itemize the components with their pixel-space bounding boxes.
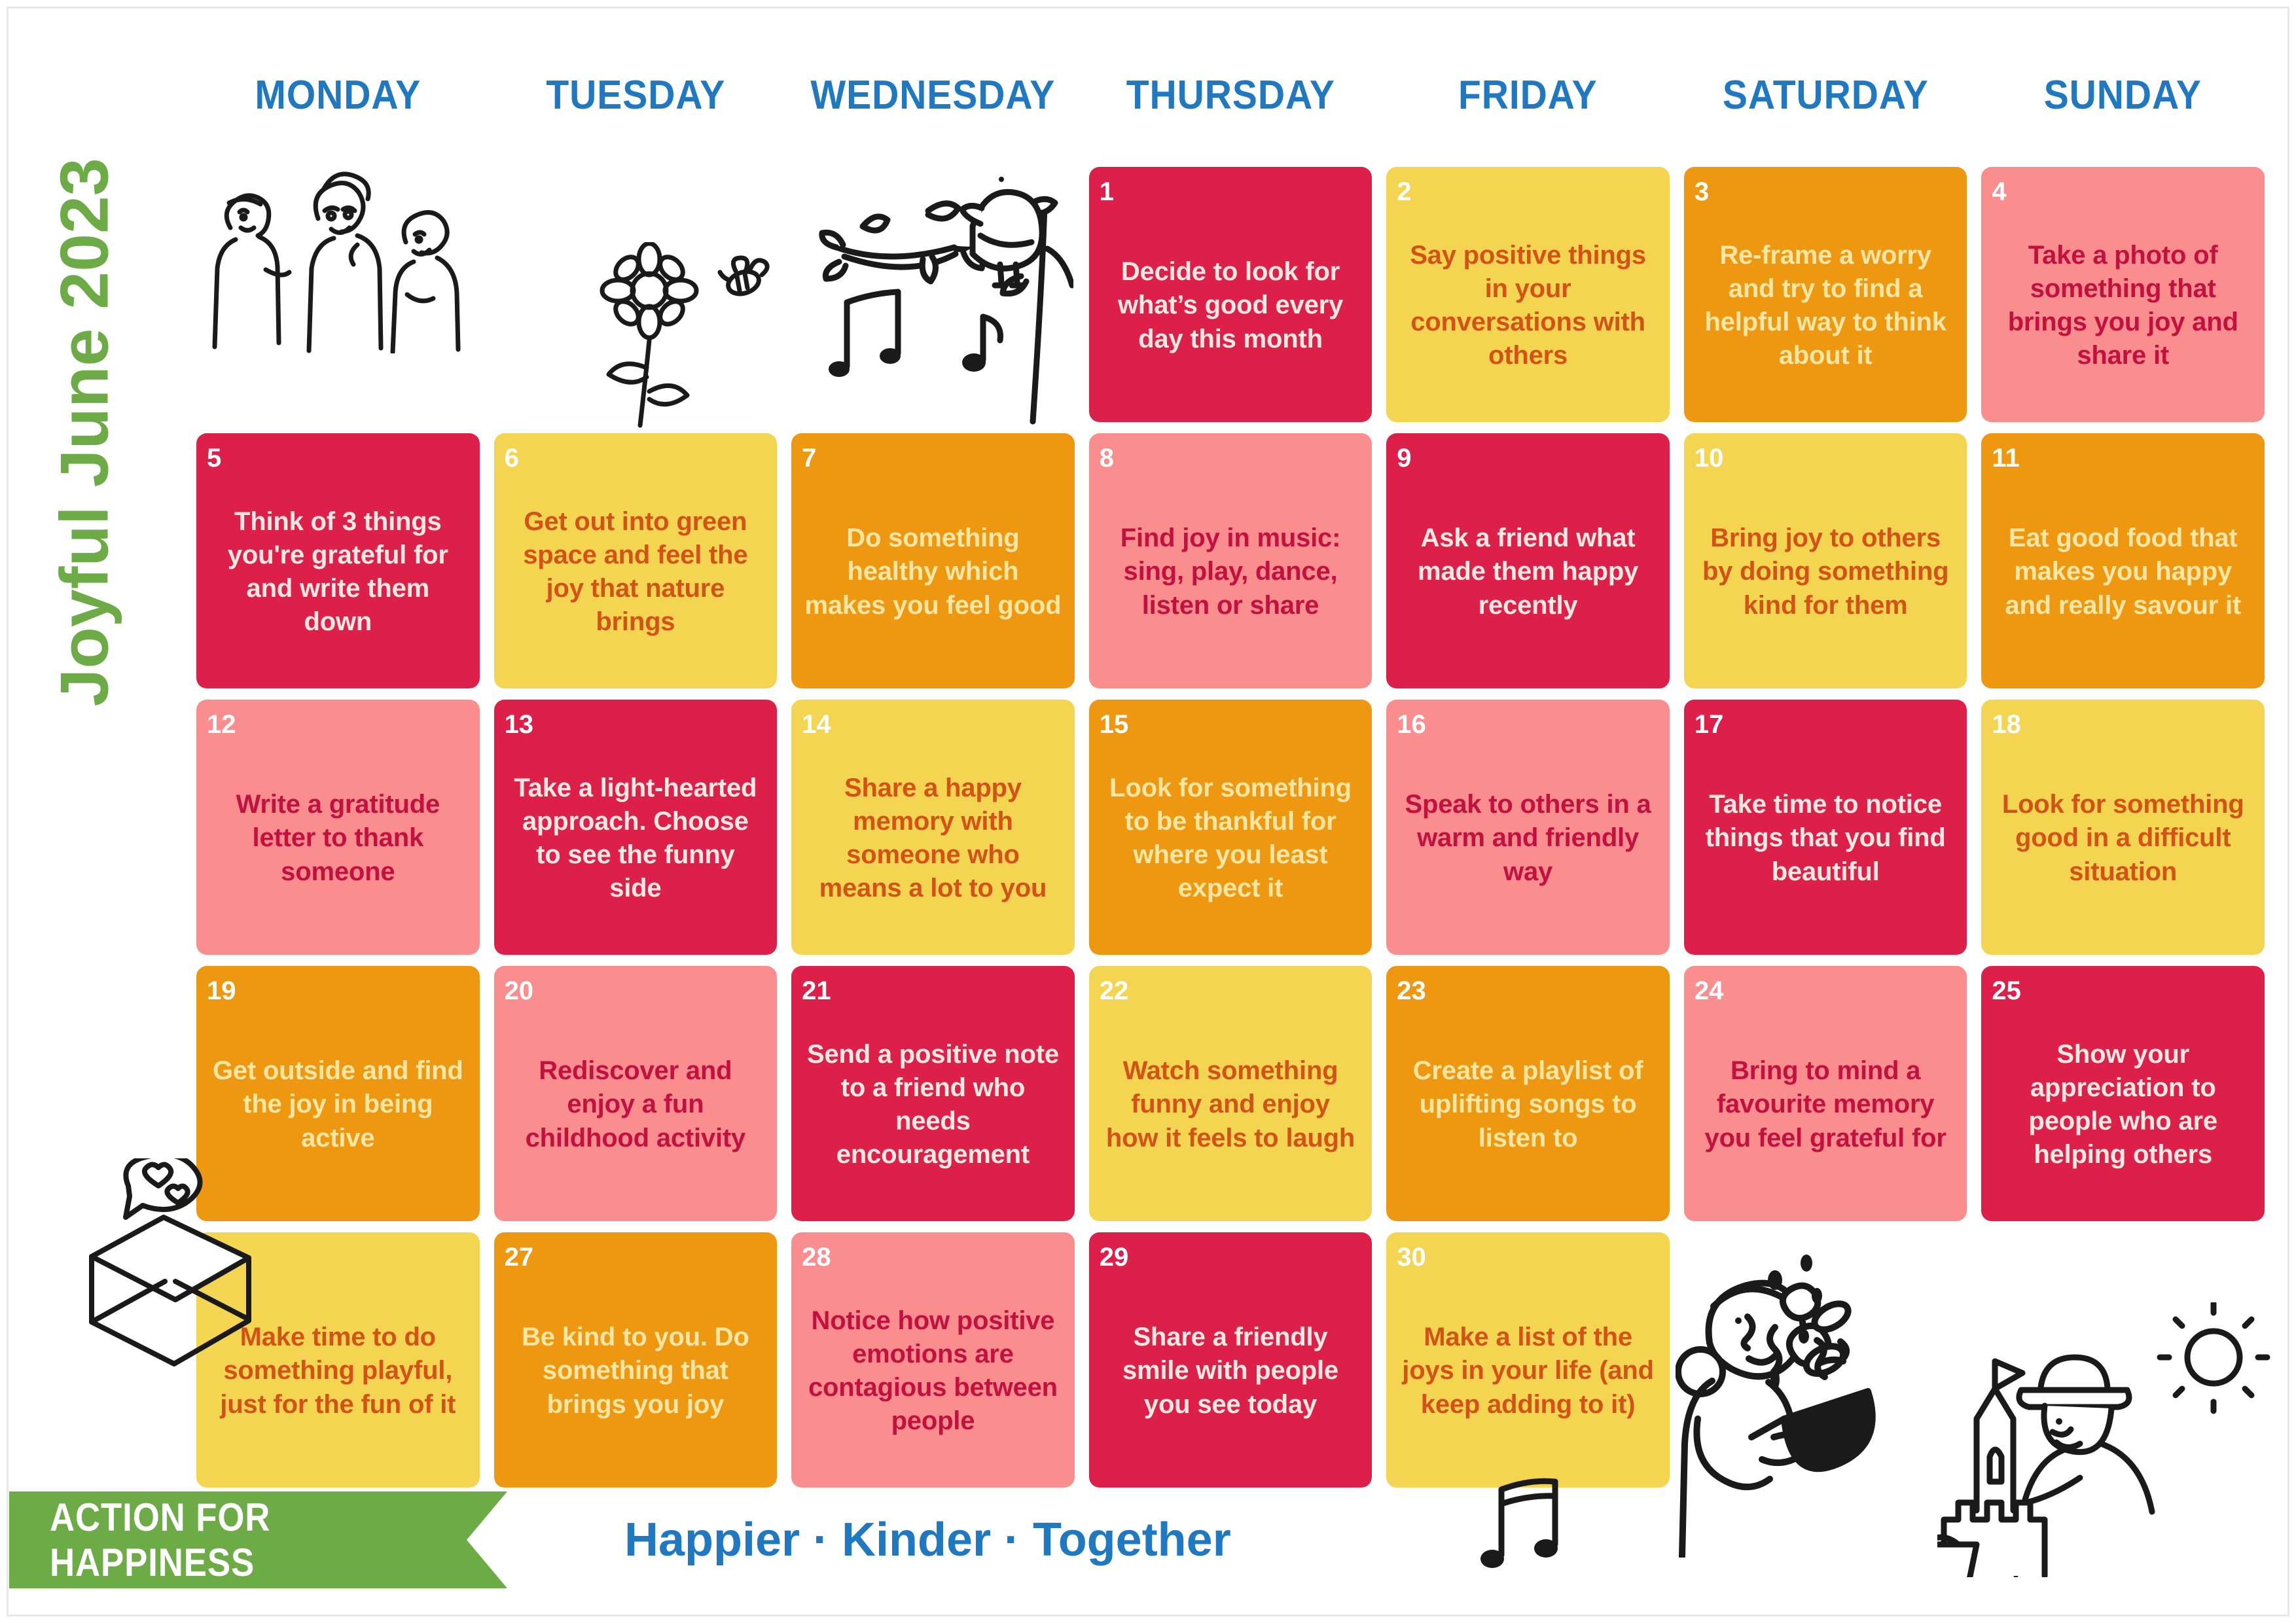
day-number: 13: [505, 711, 767, 738]
day-number: 7: [802, 445, 1064, 471]
calendar-day-23[interactable]: 23Create a playlist of uplifting songs t…: [1386, 966, 1670, 1221]
day-action-text: Get out into green space and feel the jo…: [505, 474, 767, 678]
calendar-grid: 1Decide to look for what’s good every da…: [196, 167, 2265, 1488]
day-action-text: Find joy in music: sing, play, dance, li…: [1100, 474, 1362, 678]
day-number: 19: [207, 978, 469, 1004]
brand-name: ACTION FOR HAPPINESS: [50, 1495, 452, 1585]
weekday-sunday: SUNDAY: [1993, 72, 2253, 118]
day-number: 16: [1397, 711, 1659, 738]
calendar-day-15[interactable]: 15Look for something to be thankful for …: [1089, 700, 1372, 955]
weekday-wednesday: WEDNESDAY: [802, 72, 1063, 118]
day-number: 27: [505, 1244, 767, 1270]
day-action-text: Take a light-hearted approach. Choose to…: [505, 740, 767, 944]
calendar-day-29[interactable]: 29Share a friendly smile with people you…: [1089, 1232, 1372, 1488]
calendar-cell-empty: [1684, 1232, 1967, 1488]
day-number: 17: [1695, 711, 1957, 738]
day-action-text: Make time to do something playful, just …: [207, 1273, 469, 1477]
day-number: 25: [1992, 978, 2254, 1004]
weekday-saturday: SATURDAY: [1695, 72, 1956, 118]
calendar-day-12[interactable]: 12Write a gratitude letter to thank some…: [196, 700, 480, 955]
day-number: 2: [1397, 179, 1659, 205]
day-action-text: Think of 3 things you're grateful for an…: [207, 474, 469, 678]
calendar-cell-empty: [1981, 1232, 2265, 1488]
day-action-text: Get outside and find the joy in being ac…: [207, 1007, 469, 1211]
day-number: 22: [1100, 978, 1362, 1004]
day-number: 10: [1695, 445, 1957, 471]
calendar-day-28[interactable]: 28Notice how positive emotions are conta…: [791, 1232, 1075, 1488]
calendar-day-8[interactable]: 8Find joy in music: sing, play, dance, l…: [1089, 433, 1372, 688]
calendar-day-14[interactable]: 14Share a happy memory with someone who …: [791, 700, 1075, 955]
day-action-text: Make a list of the joys in your life (an…: [1397, 1273, 1659, 1477]
brand-ribbon: ACTION FOR HAPPINESS: [9, 1491, 507, 1588]
day-action-text: Take a photo of something that brings yo…: [1992, 207, 2254, 412]
day-number: 4: [1992, 179, 2254, 205]
day-action-text: Say positive things in your conversation…: [1397, 207, 1659, 412]
calendar-day-2[interactable]: 2Say positive things in your conversatio…: [1386, 167, 1670, 422]
day-number: 15: [1100, 711, 1362, 738]
day-action-text: Watch something funny and enjoy how it f…: [1100, 1007, 1362, 1211]
calendar-day-4[interactable]: 4Take a photo of something that brings y…: [1981, 167, 2265, 422]
calendar-day-1[interactable]: 1Decide to look for what’s good every da…: [1089, 167, 1372, 422]
calendar-cell-empty: [494, 167, 778, 422]
weekday-thursday: THURSDAY: [1100, 72, 1361, 118]
day-number: 21: [802, 978, 1064, 1004]
day-action-text: Share a happy memory with someone who me…: [802, 740, 1064, 944]
calendar-day-9[interactable]: 9Ask a friend what made them happy recen…: [1386, 433, 1670, 688]
day-number: 5: [207, 445, 469, 471]
day-number: 11: [1992, 445, 2254, 471]
calendar-day-26[interactable]: 26Make time to do something playful, jus…: [196, 1232, 480, 1488]
calendar-cell-empty: [196, 167, 480, 422]
day-action-text: Decide to look for what’s good every day…: [1100, 207, 1362, 412]
day-action-text: Speak to others in a warm and friendly w…: [1397, 740, 1659, 944]
calendar-day-22[interactable]: 22Watch something funny and enjoy how it…: [1089, 966, 1372, 1221]
day-number: 18: [1992, 711, 2254, 738]
day-action-text: Share a friendly smile with people you s…: [1100, 1273, 1362, 1477]
day-action-text: Re-frame a worry and try to find a helpf…: [1695, 207, 1957, 412]
day-action-text: Notice how positive emotions are contagi…: [802, 1273, 1064, 1477]
day-action-text: Do something healthy which makes you fee…: [802, 474, 1064, 678]
calendar-day-30[interactable]: 30Make a list of the joys in your life (…: [1386, 1232, 1670, 1488]
day-action-text: Send a positive note to a friend who nee…: [802, 1007, 1064, 1211]
day-action-text: Ask a friend what made them happy recent…: [1397, 474, 1659, 678]
calendar-day-10[interactable]: 10Bring joy to others by doing something…: [1684, 433, 1967, 688]
day-number: 28: [802, 1244, 1064, 1270]
day-action-text: Bring joy to others by doing something k…: [1695, 474, 1957, 678]
calendar-day-24[interactable]: 24Bring to mind a favourite memory you f…: [1684, 966, 1967, 1221]
calendar-day-19[interactable]: 19Get outside and find the joy in being …: [196, 966, 480, 1221]
footer: ACTION FOR HAPPINESS Happier · Kinder · …: [9, 1491, 2287, 1589]
calendar-day-25[interactable]: 25Show your appreciation to people who a…: [1981, 966, 2265, 1221]
day-action-text: Rediscover and enjoy a fun childhood act…: [505, 1007, 767, 1211]
day-action-text: Look for something good in a difficult s…: [1992, 740, 2254, 944]
weekday-friday: FRIDAY: [1398, 72, 1659, 118]
day-action-text: Look for something to be thankful for wh…: [1100, 740, 1362, 944]
calendar-day-27[interactable]: 27Be kind to you. Do something that brin…: [494, 1232, 778, 1488]
tagline: Happier · Kinder · Together: [624, 1513, 1231, 1567]
calendar-cell-empty: [791, 167, 1075, 422]
calendar-day-13[interactable]: 13Take a light-hearted approach. Choose …: [494, 700, 778, 955]
day-action-text: Show your appreciation to people who are…: [1992, 1007, 2254, 1211]
page-title: Joyful June 2023: [46, 183, 124, 707]
day-action-text: Write a gratitude letter to thank someon…: [207, 740, 469, 944]
calendar-day-18[interactable]: 18Look for something good in a difficult…: [1981, 700, 2265, 955]
day-number: 14: [802, 711, 1064, 738]
day-action-text: Eat good food that makes you happy and r…: [1992, 474, 2254, 678]
calendar-day-3[interactable]: 3Re-frame a worry and try to find a help…: [1684, 167, 1967, 422]
day-action-text: Bring to mind a favourite memory you fee…: [1695, 1007, 1957, 1211]
day-number: 29: [1100, 1244, 1362, 1270]
day-number: 6: [505, 445, 767, 471]
day-number: 26: [207, 1244, 469, 1270]
calendar-day-20[interactable]: 20Rediscover and enjoy a fun childhood a…: [494, 966, 778, 1221]
day-number: 3: [1695, 179, 1957, 205]
day-number: 8: [1100, 445, 1362, 471]
day-action-text: Take time to notice things that you find…: [1695, 740, 1957, 944]
day-number: 20: [505, 978, 767, 1004]
day-action-text: Create a playlist of uplifting songs to …: [1397, 1007, 1659, 1211]
calendar-day-11[interactable]: 11Eat good food that makes you happy and…: [1981, 433, 2265, 688]
weekday-tuesday: TUESDAY: [505, 72, 766, 118]
day-number: 30: [1397, 1244, 1659, 1270]
day-number: 12: [207, 711, 469, 738]
day-number: 23: [1397, 978, 1659, 1004]
weekday-monday: MONDAY: [207, 72, 468, 118]
day-number: 1: [1100, 179, 1362, 205]
weekday-header-row: MONDAY TUESDAY WEDNESDAY THURSDAY FRIDAY…: [196, 72, 2265, 118]
calendar-day-5[interactable]: 5Think of 3 things you're grateful for a…: [196, 433, 480, 688]
day-action-text: Be kind to you. Do something that brings…: [505, 1273, 767, 1477]
calendar-day-17[interactable]: 17Take time to notice things that you fi…: [1684, 700, 1967, 955]
calendar-day-21[interactable]: 21Send a positive note to a friend who n…: [791, 966, 1075, 1221]
day-number: 9: [1397, 445, 1659, 471]
calendar-day-7[interactable]: 7Do something healthy which makes you fe…: [791, 433, 1075, 688]
calendar-day-16[interactable]: 16Speak to others in a warm and friendly…: [1386, 700, 1670, 955]
calendar-day-6[interactable]: 6Get out into green space and feel the j…: [494, 433, 778, 688]
day-number: 24: [1695, 978, 1957, 1004]
